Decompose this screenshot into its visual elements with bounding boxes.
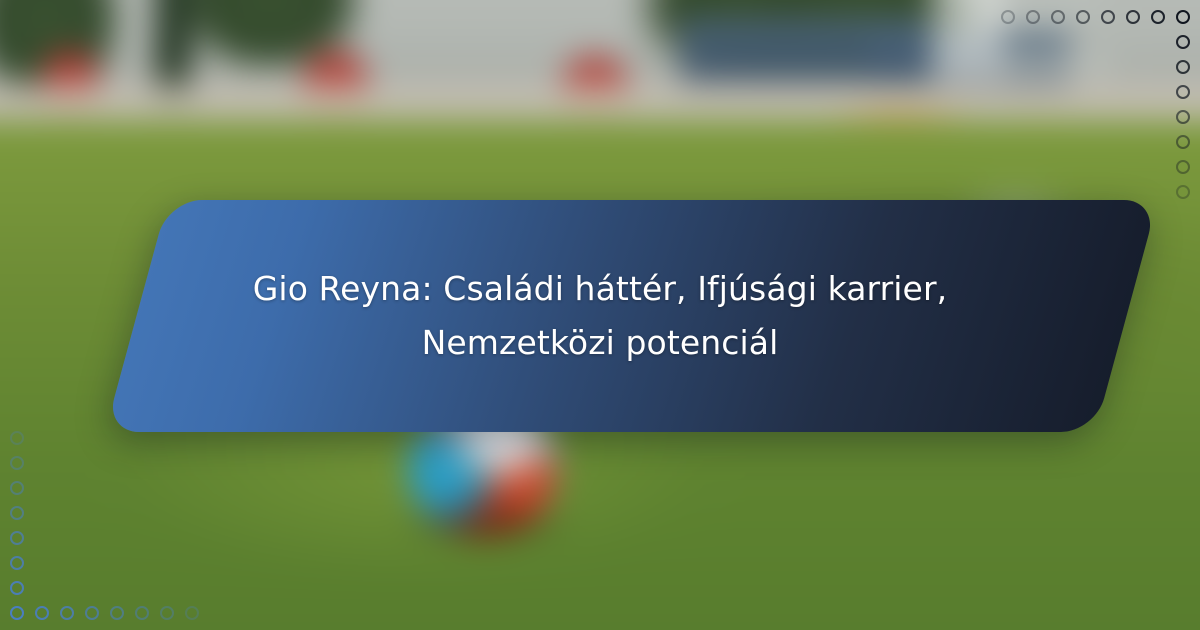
stand-panel-3 [932, 0, 1002, 80]
share-card: Gio Reyna: Családi háttér, Ifjúsági karr… [0, 0, 1200, 630]
page-title: Gio Reyna: Családi háttér, Ifjúsági karr… [105, 200, 1095, 432]
title-banner: Gio Reyna: Családi háttér, Ifjúsági karr… [105, 200, 1095, 432]
stand-panel-1 [990, 0, 1100, 18]
